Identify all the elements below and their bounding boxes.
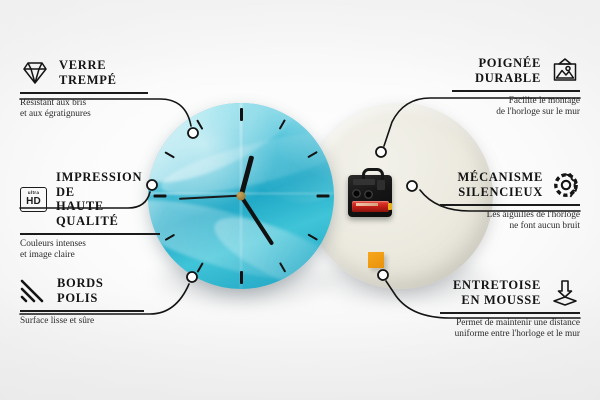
feature-desc-line1: Surface lisse et sûre <box>20 316 144 327</box>
feature-bords-polis: BORDS POLIS Surface lisse et sûre <box>20 276 144 327</box>
feature-desc-line2: de l'horloge sur le mur <box>452 107 580 118</box>
arrow-onto-stack-icon <box>550 279 580 307</box>
feature-title-line1: MÉCANISME <box>458 170 543 185</box>
ultra-hd-icon-bottom-label: HD <box>26 197 41 207</box>
feature-desc-line2: uniforme entre l'horloge et le mur <box>440 329 580 340</box>
feature-title: VERRE TREMPÉ <box>59 58 117 87</box>
mechanism-dial-one <box>352 189 361 198</box>
feature-entretoise-en-mousse: ENTRETOISE EN MOUSSE Permet de maintenir… <box>440 278 580 340</box>
feature-title-line1: BORDS <box>57 276 104 291</box>
mechanism-dial-two <box>364 190 373 199</box>
feature-title: IMPRESSION DE HAUTE QUALITÉ <box>56 170 160 228</box>
feature-header: POIGNÉE DURABLE <box>452 56 580 85</box>
feature-desc-line2: et image claire <box>20 250 160 261</box>
hanging-picture-frame-icon <box>550 57 580 85</box>
feature-poignee-durable: POIGNÉE DURABLE Facilite le montage de l… <box>452 56 580 118</box>
feature-verre-trempe: VERRE TREMPÉ Résistant aux bris et aux é… <box>20 58 148 120</box>
feature-divider <box>20 233 160 235</box>
feature-description: Permet de maintenir une distance uniform… <box>440 318 580 340</box>
clock-hand-cap <box>237 192 246 201</box>
feature-title-line1: POIGNÉE <box>475 56 541 71</box>
feature-title: BORDS POLIS <box>57 276 104 305</box>
feature-header: VERRE TREMPÉ <box>20 58 148 87</box>
clock-tick <box>240 271 243 284</box>
battery <box>352 201 389 212</box>
feature-desc-line2: et aux égratignures <box>20 109 148 120</box>
feature-description: Surface lisse et sûre <box>20 316 144 327</box>
feature-header: BORDS POLIS <box>20 276 144 305</box>
feature-divider <box>20 92 148 94</box>
feature-title-line2: DURABLE <box>475 71 541 86</box>
feature-desc-line1: Couleurs intenses <box>20 239 160 250</box>
feature-divider <box>440 312 580 314</box>
feature-description: Résistant aux bris et aux égratignures <box>20 98 148 120</box>
feature-desc-line1: Résistant aux bris <box>20 98 148 109</box>
feature-title-line2: EN MOUSSE <box>453 293 541 308</box>
feature-title-line2: TREMPÉ <box>59 73 117 88</box>
feature-description: Couleurs intenses et image claire <box>20 239 160 261</box>
feature-desc-line1: Facilite le montage <box>452 96 580 107</box>
battery-label <box>356 203 378 206</box>
feature-title: ENTRETOISE EN MOUSSE <box>453 278 541 307</box>
mechanism-slot-secondary <box>377 180 385 190</box>
diamond-icon <box>20 59 50 87</box>
feature-title-line1: VERRE <box>59 58 117 73</box>
feature-mecanisme-silencieux: MÉCANISME SILENCIEUX Les aiguilles de l'… <box>440 170 580 232</box>
feature-title-line2: HAUTE QUALITÉ <box>56 199 160 228</box>
feature-header: ENTRETOISE EN MOUSSE <box>440 278 580 307</box>
clock-tick <box>316 195 329 198</box>
feature-divider <box>20 310 144 312</box>
feature-header: ultra HD IMPRESSION DE HAUTE QUALITÉ <box>20 170 160 228</box>
feature-title-line1: IMPRESSION DE <box>56 170 160 199</box>
diagonal-stripes-icon <box>20 278 48 304</box>
feature-title-line2: POLIS <box>57 291 104 306</box>
feature-title-line1: ENTRETOISE <box>453 278 541 293</box>
feature-divider <box>452 90 580 92</box>
feature-desc-line1: Les aiguilles de l'horloge <box>440 210 580 221</box>
infographic-canvas: VERRE TREMPÉ Résistant aux bris et aux é… <box>0 0 600 400</box>
feature-description: Facilite le montage de l'horloge sur le … <box>452 96 580 118</box>
feature-header: MÉCANISME SILENCIEUX <box>440 170 580 199</box>
feature-divider <box>440 204 580 206</box>
clock-tick <box>240 108 243 121</box>
feature-title-line2: SILENCIEUX <box>458 185 543 200</box>
mechanism-slot <box>353 179 375 185</box>
gear-icon <box>552 171 580 199</box>
feature-impression-haute-qualite: ultra HD IMPRESSION DE HAUTE QUALITÉ Cou… <box>20 170 160 261</box>
feature-title: MÉCANISME SILENCIEUX <box>458 170 543 199</box>
foam-spacer <box>368 252 384 268</box>
battery-positive-cap <box>388 203 392 210</box>
feature-description: Les aiguilles de l'horloge ne font aucun… <box>440 210 580 232</box>
feature-desc-line2: ne font aucun bruit <box>440 221 580 232</box>
feature-title: POIGNÉE DURABLE <box>475 56 541 85</box>
feature-desc-line1: Permet de maintenir une distance <box>440 318 580 329</box>
front-clock-face[interactable] <box>148 103 334 289</box>
ultra-hd-icon: ultra HD <box>20 187 47 212</box>
